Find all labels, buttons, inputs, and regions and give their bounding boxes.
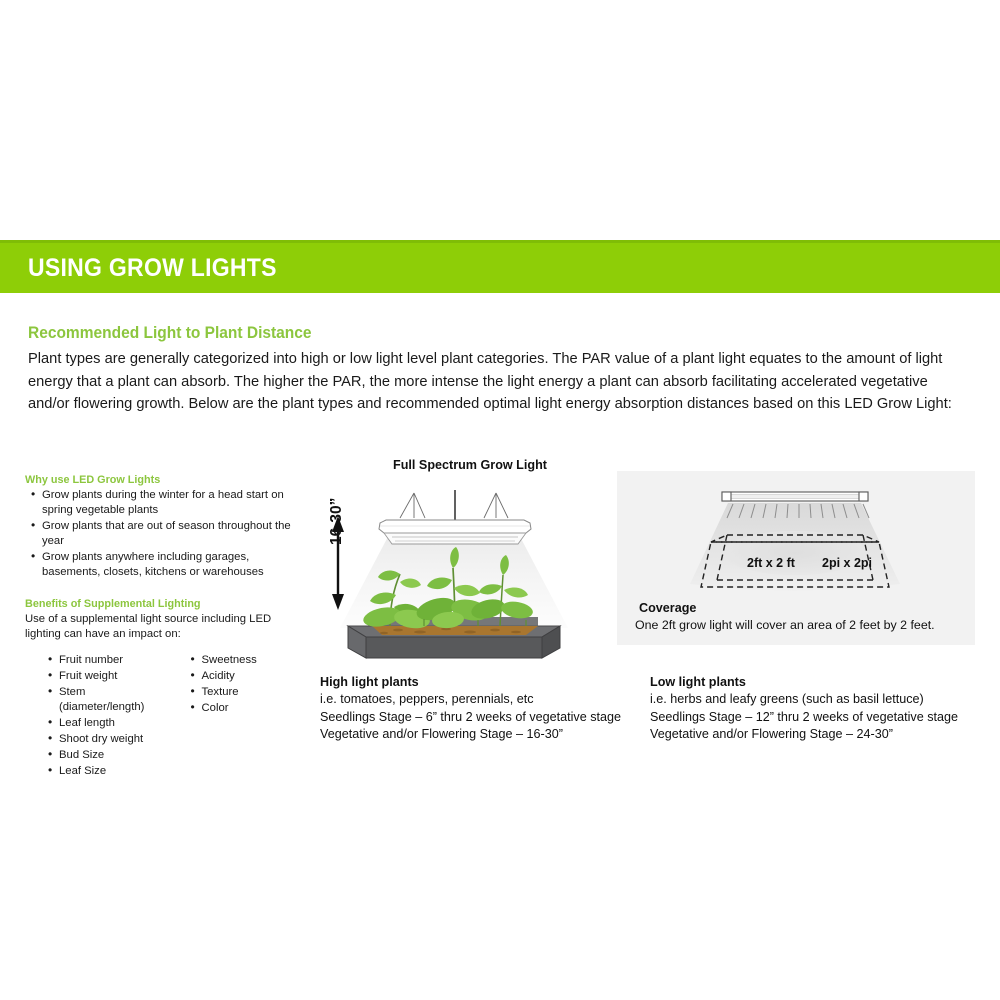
list-item: Sweetness <box>202 653 316 668</box>
intro-heading: Recommended Light to Plant Distance <box>28 324 915 343</box>
light-distance-label: 16-30” <box>328 498 346 545</box>
caption-line: Seedlings Stage – 12” thru 2 weeks of ve… <box>650 709 958 726</box>
list-item: Bud Size <box>59 748 173 763</box>
coverage-label-right: 2pi x 2pi <box>822 556 872 570</box>
coverage-diagram-svg: 2ft x 2 ft 2pi x 2pi <box>617 477 975 607</box>
grow-light-illustration: Full Spectrum Grow Light <box>320 458 620 663</box>
list-item: Grow plants that are out of season throu… <box>42 519 310 549</box>
coverage-description: One 2ft grow light will cover an area of… <box>635 618 935 632</box>
why-led-heading: Why use LED Grow Lights <box>25 474 296 486</box>
why-led-section: Why use LED Grow Lights Grow plants duri… <box>25 474 310 581</box>
page-header-bar: USING GROW LIGHTS <box>0 240 1000 293</box>
list-item: Stem (diameter/length) <box>59 685 173 715</box>
benefits-list-right: Sweetness Acidity Texture Color <box>185 653 316 716</box>
list-item: Shoot dry weight <box>59 732 173 747</box>
grow-light-diagram-svg <box>320 476 620 661</box>
caption-line: Vegetative and/or Flowering Stage – 24-3… <box>650 726 958 743</box>
caption-line: i.e. herbs and leafy greens (such as bas… <box>650 691 958 708</box>
caption-line: i.e. tomatoes, peppers, perennials, etc <box>320 691 621 708</box>
list-item: Acidity <box>202 669 316 684</box>
caption-line: Vegetative and/or Flowering Stage – 16-3… <box>320 726 621 743</box>
list-item: Grow plants anywhere including garages, … <box>42 550 310 580</box>
benefits-list-left: Fruit number Fruit weight Stem (diameter… <box>42 653 173 779</box>
coverage-panel: 2ft x 2 ft 2pi x 2pi Coverage One 2ft gr… <box>617 471 975 645</box>
list-item: Leaf Size <box>59 764 173 779</box>
caption-title: High light plants <box>320 674 621 691</box>
coverage-title: Coverage <box>639 601 696 615</box>
benefits-column-right: Sweetness Acidity Texture Color <box>173 653 316 780</box>
intro-paragraph: Plant types are generally categorized in… <box>28 348 971 416</box>
benefits-lists: Fruit number Fruit weight Stem (diameter… <box>25 653 315 780</box>
hanging-wires <box>400 490 508 524</box>
high-light-caption: High light plants i.e. tomatoes, peppers… <box>320 674 621 744</box>
list-item: Fruit number <box>59 653 173 668</box>
page-title: USING GROW LIGHTS <box>28 254 277 283</box>
benefits-section: Benefits of Supplemental Lighting Use of… <box>25 598 310 642</box>
list-item: Color <box>202 701 316 716</box>
intro-section: Recommended Light to Plant Distance Plan… <box>28 324 972 416</box>
coverage-label-left: 2ft x 2 ft <box>747 556 796 570</box>
list-item: Leaf length <box>59 716 173 731</box>
caption-title: Low light plants <box>650 674 958 691</box>
list-item: Grow plants during the winter for a head… <box>42 488 310 518</box>
low-light-caption: Low light plants i.e. herbs and leafy gr… <box>650 674 958 744</box>
benefits-column-left: Fruit number Fruit weight Stem (diameter… <box>25 653 173 780</box>
benefits-heading: Benefits of Supplemental Lighting <box>25 598 296 610</box>
figure-title: Full Spectrum Grow Light <box>320 458 620 472</box>
list-item: Fruit weight <box>59 669 173 684</box>
list-item: Texture <box>202 685 316 700</box>
why-led-list: Grow plants during the winter for a head… <box>25 488 310 580</box>
light-fixture <box>379 520 531 544</box>
tube-light-fixture <box>722 492 868 501</box>
caption-line: Seedlings Stage – 6” thru 2 weeks of veg… <box>320 709 621 726</box>
benefits-intro: Use of a supplemental light source inclu… <box>25 612 310 642</box>
